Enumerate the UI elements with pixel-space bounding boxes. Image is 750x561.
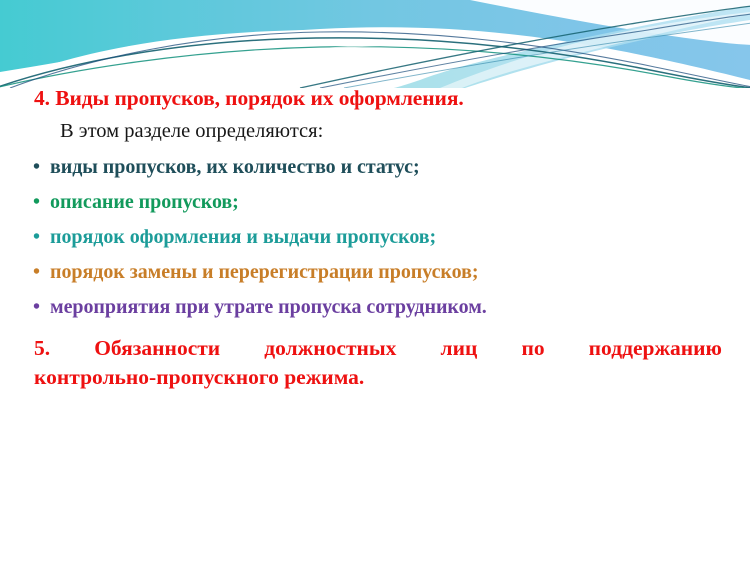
section-five-line-1: 5. Обязанности должностных лиц по поддер… xyxy=(34,334,722,363)
bullet-marker-icon: • xyxy=(33,154,40,180)
bullet-marker-icon: • xyxy=(33,224,40,250)
list-item-label: порядок замены и перерегистрации пропуск… xyxy=(50,261,478,283)
wave-banner-graphic xyxy=(0,0,750,88)
section-five-line-2: контрольно-пропускного режима. xyxy=(34,363,722,392)
list-item-label: описание пропусков; xyxy=(50,191,239,213)
bullet-marker-icon: • xyxy=(33,294,40,320)
list-item-label: порядок оформления и выдачи пропусков; xyxy=(50,226,436,248)
bullet-marker-icon: • xyxy=(33,259,40,285)
section-five-heading: 5. Обязанности должностных лиц по поддер… xyxy=(0,334,750,392)
slide-canvas: 4. Виды пропусков, порядок их оформления… xyxy=(0,0,750,561)
list-item: • порядок оформления и выдачи пропусков; xyxy=(0,224,750,250)
slide-content: 4. Виды пропусков, порядок их оформления… xyxy=(0,84,750,392)
bullet-list: • виды пропусков, их количество и статус… xyxy=(0,154,750,320)
intro-line: В этом разделе определяются: xyxy=(0,118,750,145)
bullet-marker-icon: • xyxy=(33,189,40,215)
list-item: • виды пропусков, их количество и статус… xyxy=(0,154,750,180)
list-item: • описание пропусков; xyxy=(0,189,750,215)
list-item: • порядок замены и перерегистрации пропу… xyxy=(0,259,750,285)
list-item-label: мероприятия при утрате пропуска сотрудни… xyxy=(50,296,487,318)
page-title: 4. Виды пропусков, порядок их оформления… xyxy=(0,84,750,112)
list-item-label: виды пропусков, их количество и статус; xyxy=(50,156,420,178)
list-item: • мероприятия при утрате пропуска сотруд… xyxy=(0,294,750,320)
